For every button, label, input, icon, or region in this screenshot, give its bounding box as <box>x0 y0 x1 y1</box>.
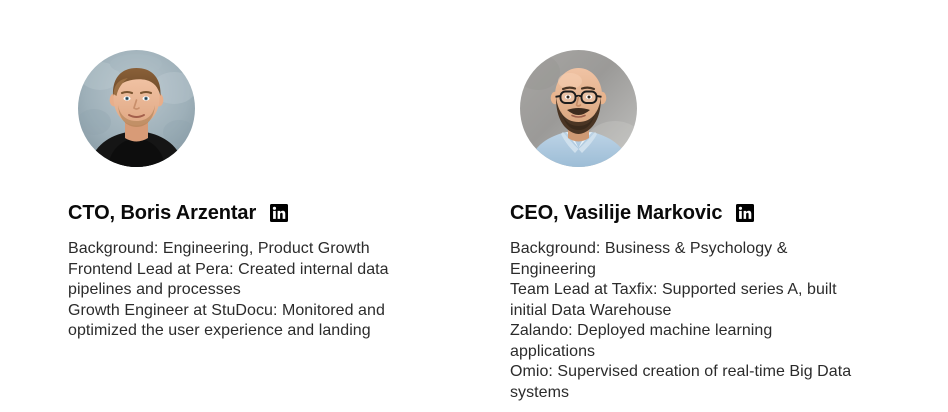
team-profiles-section: CTO, Boris Arzentar Background: Engineer… <box>0 0 948 412</box>
bio-line: Growth Engineer at StuDocu: Monitored an… <box>68 301 413 342</box>
profile-card-cto: CTO, Boris Arzentar Background: Engineer… <box>68 0 468 342</box>
avatar-vasilije-markovic <box>520 50 637 167</box>
profile-card-ceo: CEO, Vasilije Markovic Background: Busin… <box>510 0 910 403</box>
avatar-boris-arzentar <box>78 50 195 167</box>
bio-line: Zalando: Deployed machine learning appli… <box>510 321 855 362</box>
bio-line: Team Lead at Taxfix: Supported series A,… <box>510 280 855 321</box>
profile-name-row: CTO, Boris Arzentar <box>68 200 468 226</box>
profile-bio: Background: Engineering, Product Growth … <box>68 239 468 342</box>
profile-name-row: CEO, Vasilije Markovic <box>510 200 910 226</box>
bio-line: Background: Business & Psychology & Engi… <box>510 239 855 280</box>
profile-name-title: CTO, Boris Arzentar <box>68 202 256 225</box>
linkedin-icon[interactable] <box>736 204 754 222</box>
bio-line: Background: Engineering, Product Growth <box>68 239 413 260</box>
profile-name-title: CEO, Vasilije Markovic <box>510 202 722 225</box>
profile-bio: Background: Business & Psychology & Engi… <box>510 239 910 403</box>
linkedin-icon[interactable] <box>270 204 288 222</box>
bio-line: Omio: Supervised creation of real-time B… <box>510 362 855 403</box>
bio-line: Frontend Lead at Pera: Created internal … <box>68 260 413 301</box>
